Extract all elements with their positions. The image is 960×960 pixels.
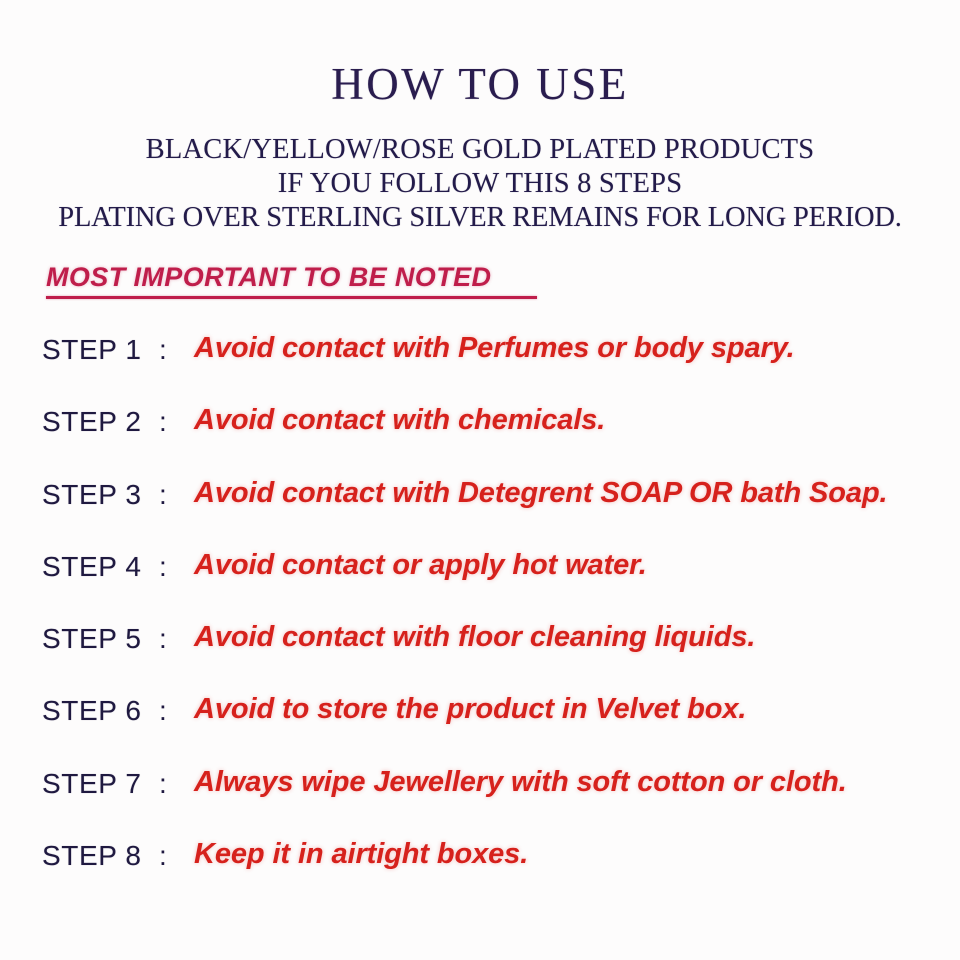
step-row-2: STEP 2 : Avoid contact with chemicals. bbox=[0, 406, 960, 478]
step-text-2: Avoid contact with chemicals. bbox=[194, 404, 605, 437]
step-text-1: Avoid contact with Perfumes or body spar… bbox=[194, 332, 795, 365]
step-text-3: Avoid contact with Detegrent SOAP OR bat… bbox=[194, 477, 888, 510]
page-title: HOW TO USE bbox=[0, 0, 960, 107]
step-text-6: Avoid to store the product in Velvet box… bbox=[194, 693, 746, 726]
step-text-4: Avoid contact or apply hot water. bbox=[194, 549, 647, 582]
how-to-use-poster: HOW TO USE BLACK/YELLOW/ROSE GOLD PLATED… bbox=[0, 0, 960, 960]
step-colon-1: : bbox=[159, 334, 167, 366]
step-row-6: STEP 6 : Avoid to store the product in V… bbox=[0, 695, 960, 767]
step-colon-4: : bbox=[159, 551, 167, 583]
step-text-7: Always wipe Jewellery with soft cotton o… bbox=[194, 766, 847, 799]
header-block: HOW TO USE BLACK/YELLOW/ROSE GOLD PLATED… bbox=[0, 0, 960, 235]
step-colon-2: : bbox=[159, 406, 167, 438]
step-label-6: STEP 6 bbox=[42, 695, 142, 727]
step-row-3: STEP 3 : Avoid contact with Detegrent SO… bbox=[0, 479, 960, 551]
step-row-1: STEP 1 : Avoid contact with Perfumes or … bbox=[0, 334, 960, 406]
step-label-8: STEP 8 bbox=[42, 840, 142, 872]
subtitle-line-3: PLATING OVER STERLING SILVER REMAINS FOR… bbox=[0, 201, 960, 235]
step-colon-3: : bbox=[159, 479, 167, 511]
step-colon-7: : bbox=[159, 768, 167, 800]
subtitle-block: BLACK/YELLOW/ROSE GOLD PLATED PRODUCTS I… bbox=[0, 133, 960, 235]
step-label-7: STEP 7 bbox=[42, 768, 142, 800]
notice-heading: MOST IMPORTANT TO BE NOTED bbox=[46, 262, 491, 293]
step-row-8: STEP 8 : Keep it in airtight boxes. bbox=[0, 840, 960, 912]
step-text-5: Avoid contact with floor cleaning liquid… bbox=[194, 621, 755, 654]
step-colon-6: : bbox=[159, 695, 167, 727]
notice-underline bbox=[46, 296, 537, 299]
step-label-4: STEP 4 bbox=[42, 551, 142, 583]
step-colon-5: : bbox=[159, 623, 167, 655]
step-row-5: STEP 5 : Avoid contact with floor cleani… bbox=[0, 623, 960, 695]
step-label-3: STEP 3 bbox=[42, 479, 142, 511]
step-label-5: STEP 5 bbox=[42, 623, 142, 655]
subtitle-line-1: BLACK/YELLOW/ROSE GOLD PLATED PRODUCTS bbox=[0, 133, 960, 167]
subtitle-line-2: IF YOU FOLLOW THIS 8 STEPS bbox=[0, 167, 960, 201]
step-row-4: STEP 4 : Avoid contact or apply hot wate… bbox=[0, 551, 960, 623]
step-row-7: STEP 7 : Always wipe Jewellery with soft… bbox=[0, 768, 960, 840]
steps-list: STEP 1 : Avoid contact with Perfumes or … bbox=[0, 334, 960, 912]
step-colon-8: : bbox=[159, 840, 167, 872]
step-label-2: STEP 2 bbox=[42, 406, 142, 438]
step-text-8: Keep it in airtight boxes. bbox=[194, 838, 528, 871]
step-label-1: STEP 1 bbox=[42, 334, 142, 366]
